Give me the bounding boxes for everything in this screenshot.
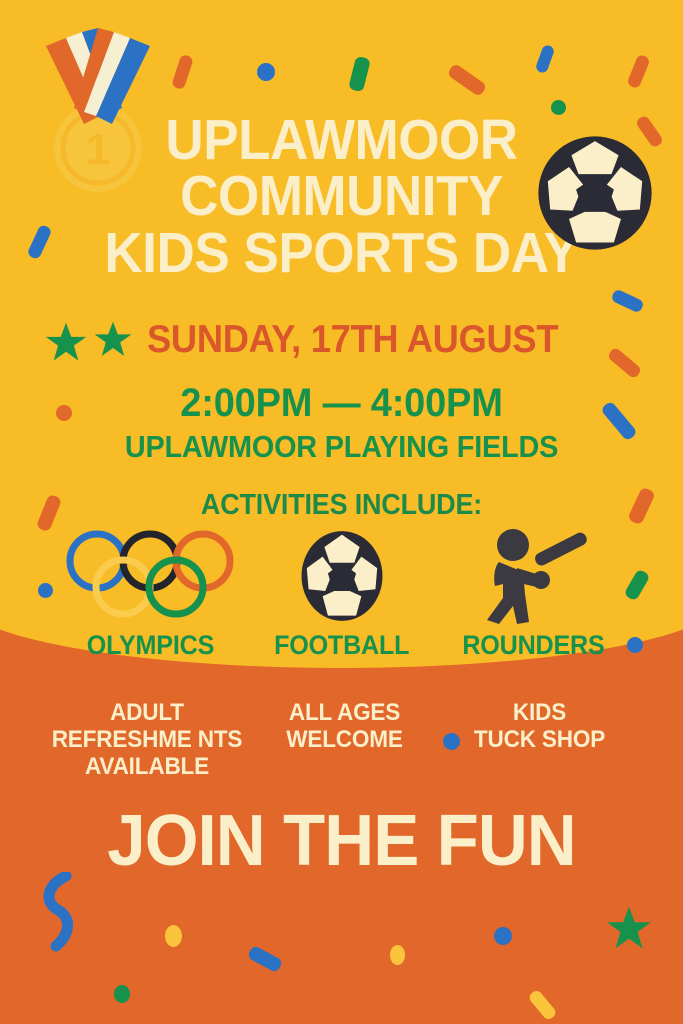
activities-heading: ACTIVITIES INCLUDE:: [24, 489, 659, 522]
poster: 1 UPLAWMOOR COMMUNITY KIDS SPORTS DAY: [0, 0, 683, 1024]
activity-olympics: OLYMPICS: [60, 528, 240, 661]
info-line: WELCOME: [262, 727, 427, 754]
info-line: TUCK SHOP: [438, 727, 640, 754]
activity-label-football: FOOTBALL: [274, 630, 409, 661]
info-line: AVAILABLE: [43, 754, 250, 781]
blue-squiggle-icon: [36, 872, 82, 952]
info-line: ADULT: [43, 700, 250, 727]
green-star-icon: [93, 320, 133, 360]
activity-label-olympics: OLYMPICS: [86, 630, 213, 661]
event-date: SUNDAY, 17TH AUGUST: [147, 318, 558, 362]
rounders-icon-box: [473, 528, 593, 624]
blue-dot-separator-icon: [443, 733, 460, 750]
rounders-batter-icon: [473, 528, 593, 624]
call-to-action: JOIN THE FUN: [14, 800, 670, 882]
activities-list: OLYMPICS FOOTBALL: [60, 528, 623, 661]
event-time: 2:00PM — 4:00PM: [17, 381, 666, 426]
info-block-tuck-shop: KIDS TUCK SHOP: [438, 700, 640, 754]
activity-football: FOOTBALL: [252, 528, 432, 661]
info-block-all-ages: ALL AGES WELCOME: [262, 700, 427, 754]
activity-rounders: ROUNDERS: [443, 528, 623, 661]
football-icon-box: [298, 528, 386, 624]
event-venue: UPLAWMOOR PLAYING FIELDS: [24, 429, 659, 465]
olympic-rings-icon: [65, 529, 235, 623]
info-block-refreshments: ADULT REFRESHME NTS AVAILABLE: [43, 700, 250, 781]
info-line: ALL AGES: [262, 700, 427, 727]
info-row: ADULT REFRESHME NTS AVAILABLE ALL AGES W…: [0, 700, 683, 781]
info-line: KIDS: [438, 700, 640, 727]
activity-label-rounders: ROUNDERS: [462, 630, 604, 661]
event-date-row: SUNDAY, 17TH AUGUST: [0, 318, 683, 362]
soccer-ball-icon: [536, 134, 654, 252]
info-line: REFRESHME NTS: [43, 727, 250, 754]
olympics-icon-box: [65, 528, 235, 624]
soccer-ball-icon: [298, 529, 386, 623]
